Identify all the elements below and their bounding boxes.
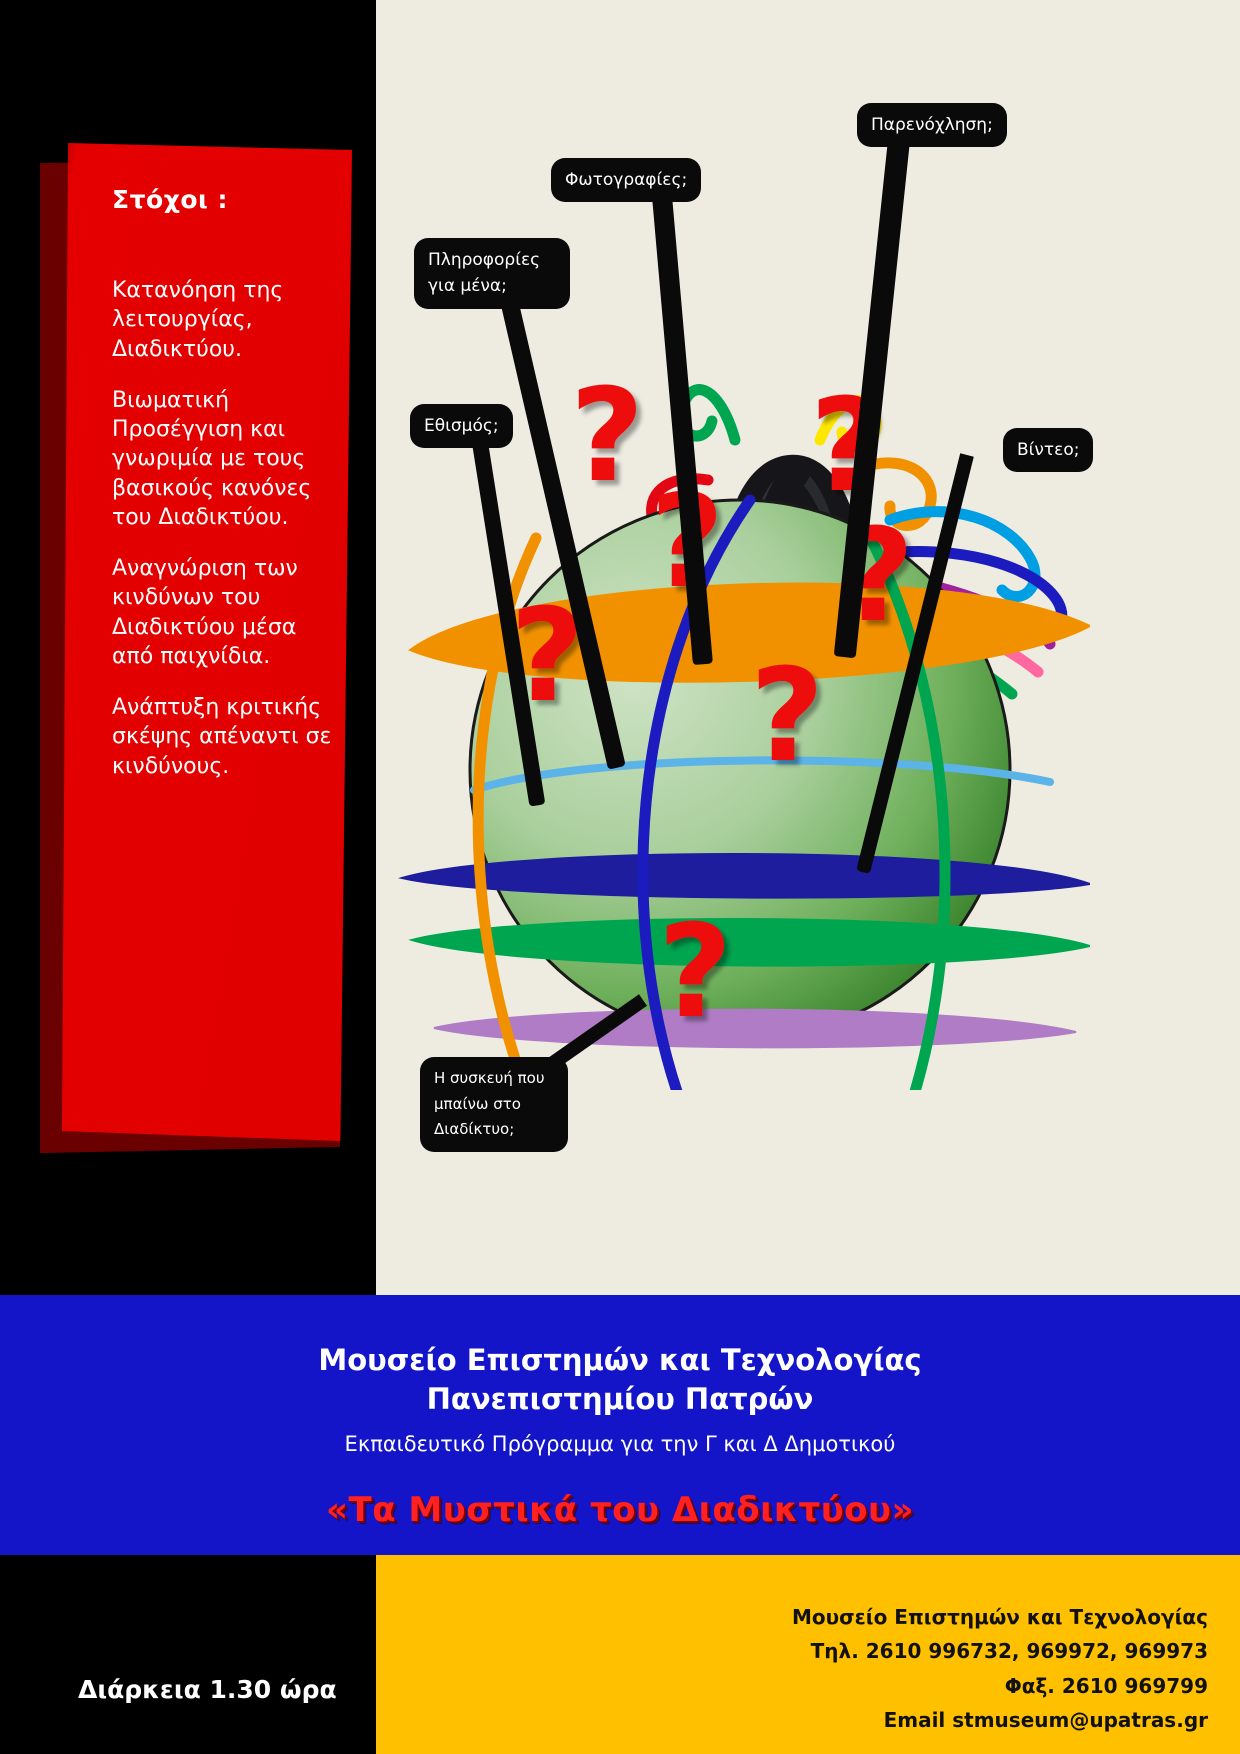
- callout-info[interactable]: Πληροφορίες για μένα;: [414, 238, 570, 309]
- objective-item-3: Αναγνώριση των κινδύνων του Διαδικτύου μ…: [112, 554, 332, 671]
- objectives-title: Στόχοι :: [112, 185, 332, 214]
- program-title: «Τα Μυστικά του Διαδικτύου»: [0, 1490, 1240, 1530]
- callout-photos[interactable]: Φωτογραφίες;: [551, 158, 701, 202]
- callout-video[interactable]: Βίντεο;: [1003, 428, 1093, 472]
- banner-title-line1: Μουσείο Επιστημών και Τεχνολογίας: [0, 1341, 1240, 1380]
- question-mark-6: ?: [750, 642, 824, 791]
- callout-addiction[interactable]: Εθισμός;: [410, 404, 513, 448]
- contact-org: Μουσείο Επιστημών και Τεχνολογίας: [792, 1600, 1208, 1634]
- banner-title: Μουσείο Επιστημών και Τεχνολογίας Πανεπι…: [0, 1341, 1240, 1418]
- banner-subtitle: Εκπαιδευτικό Πρόγραμμα για την Γ και Δ Δ…: [0, 1432, 1240, 1456]
- objectives-content: Στόχοι : Κατανόηση της λειτουργίας, Διαδ…: [112, 185, 332, 803]
- contact-email[interactable]: Email stmuseum@upatras.gr: [792, 1703, 1208, 1737]
- contact-fax: Φαξ. 2610 969799: [792, 1669, 1208, 1703]
- callout-harassment[interactable]: Παρενόχληση;: [857, 103, 1007, 147]
- contact-block: Μουσείο Επιστημών και Τεχνολογίας Τηλ. 2…: [792, 1600, 1208, 1738]
- question-mark-1: ?: [570, 362, 644, 511]
- objective-item-2: Βιωματική Προσέγγιση και γνωριμία με του…: [112, 386, 332, 532]
- duration-label: Διάρκεια 1.30 ώρα: [78, 1675, 337, 1704]
- contact-phone: Τηλ. 2610 996732, 969972, 969973: [792, 1634, 1208, 1668]
- poster-root: Στόχοι : Κατανόηση της λειτουργίας, Διαδ…: [0, 0, 1240, 1754]
- question-mark-7: ?: [658, 898, 732, 1047]
- objective-item-1: Κατανόηση της λειτουργίας, Διαδικτύου.: [112, 276, 332, 364]
- banner-title-line2: Πανεπιστημίου Πατρών: [0, 1380, 1240, 1419]
- banner: Μουσείο Επιστημών και Τεχνολογίας Πανεπι…: [0, 1295, 1240, 1555]
- objective-item-4: Ανάπτυξη κριτικής σκέψης απέναντι σε κιν…: [112, 693, 332, 781]
- callout-device[interactable]: Η συσκευή που μπαίνω στο Διαδίκτυο;: [420, 1057, 568, 1152]
